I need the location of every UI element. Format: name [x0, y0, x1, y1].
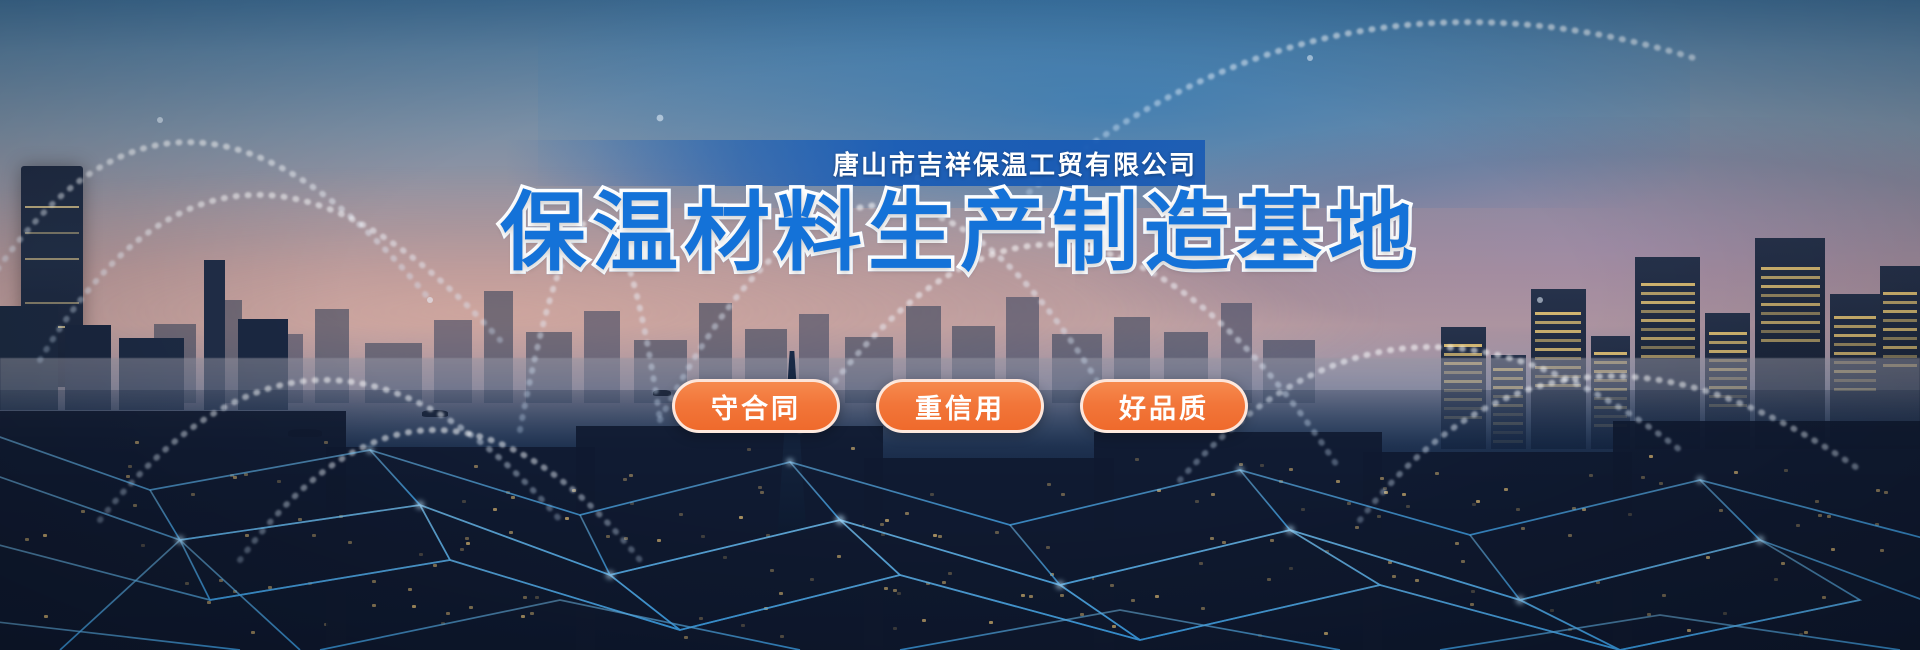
- badge-label: 守合同: [711, 387, 801, 426]
- banner-content: 唐山市吉祥保温工贸有限公司 保温材料生产制造基地 守合同 重信用 好品质: [0, 0, 1920, 650]
- badge-row: 守合同 重信用 好品质: [0, 379, 1920, 433]
- company-name-bar: 唐山市吉祥保温工贸有限公司: [505, 140, 1205, 186]
- company-name: 唐山市吉祥保温工贸有限公司: [833, 145, 1197, 182]
- badge-hao-pin-zhi[interactable]: 好品质: [1080, 379, 1248, 433]
- headline-text: 保温材料生产制造基地: [500, 185, 1420, 281]
- hero-banner: 唐山市吉祥保温工贸有限公司 保温材料生产制造基地 守合同 重信用 好品质: [0, 0, 1920, 650]
- page-title: 保温材料生产制造基地: [0, 186, 1920, 281]
- badge-shou-he-tong[interactable]: 守合同: [672, 379, 840, 433]
- badge-zhong-xin-yong[interactable]: 重信用: [876, 379, 1044, 433]
- badge-label: 好品质: [1119, 387, 1209, 426]
- badge-label: 重信用: [915, 387, 1005, 426]
